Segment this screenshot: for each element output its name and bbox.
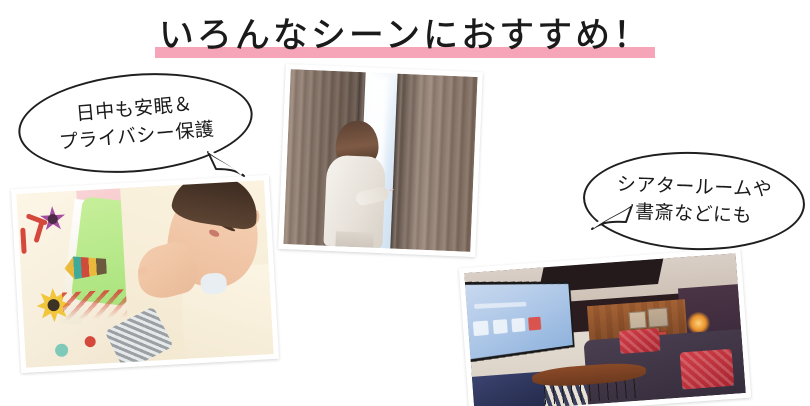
fish-motif [64, 253, 107, 281]
page-title: いろんなシーンにおすすめ！ [0, 8, 810, 64]
baby-mouth [208, 229, 220, 239]
screen-text-line [474, 302, 526, 309]
baby-collar [200, 273, 227, 295]
bubble-right-line-2: 書斎などにも [635, 199, 753, 230]
woman-legs [335, 231, 373, 248]
baby-fist [137, 266, 148, 276]
photo-theater-room [459, 248, 751, 406]
woman-hand [389, 188, 394, 191]
baby-scene [16, 180, 273, 368]
red-stem-motif [20, 215, 82, 257]
promo-banner: いろんなシーンにおすすめ！ [0, 0, 810, 406]
speech-bubble-right-tail [588, 203, 634, 235]
photo-baby-inner [16, 180, 273, 368]
curtain-scene [283, 69, 477, 252]
theater-scene [464, 253, 746, 406]
title-inner: いろんなシーンにおすすめ！ [155, 12, 655, 60]
curtain-panel-right [390, 74, 478, 252]
woman-figure [317, 120, 404, 249]
wall-frame-2 [648, 307, 669, 328]
speech-bubble-left-tail [206, 148, 252, 182]
woman-arm [355, 185, 390, 206]
photo-theater-inner [464, 253, 746, 406]
screen-ui-row [473, 313, 557, 339]
title-text: いろんなシーンにおすすめ！ [159, 12, 651, 60]
wall-frame-1 [628, 311, 647, 330]
speech-bubble-right: シアタールームや 書斎などにも [581, 148, 806, 254]
photo-curtain [278, 64, 483, 257]
photo-baby [11, 175, 279, 373]
cushion-red-2 [680, 349, 734, 389]
cushion-red-1 [618, 328, 660, 355]
photo-curtain-inner [283, 69, 477, 252]
